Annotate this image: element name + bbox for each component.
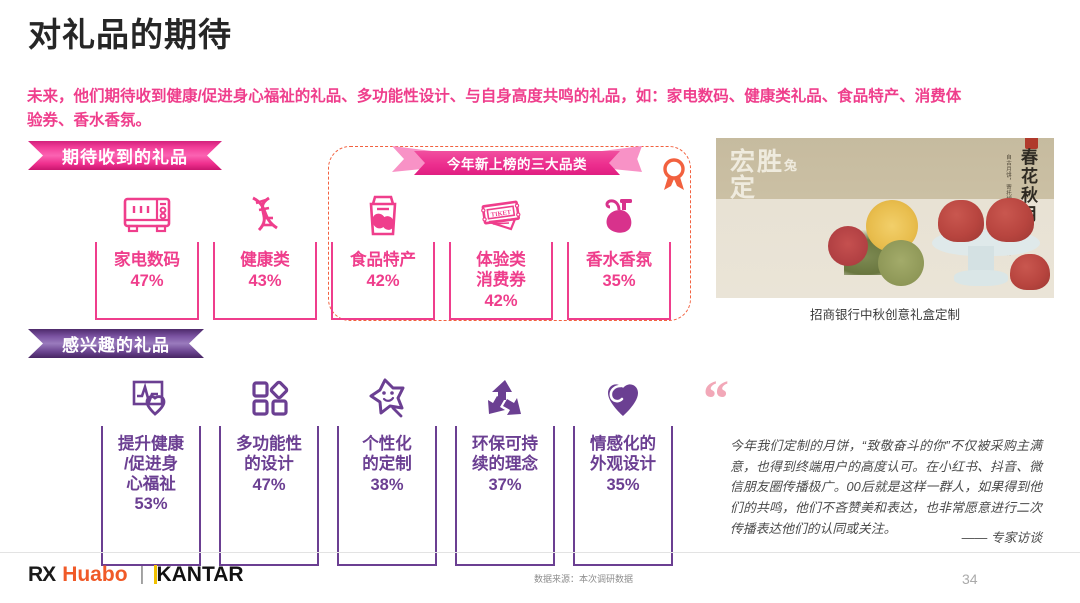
mooncake-photo: 宏胜兔 定 春花秋月 自古月饼，寄托相思与团圆，分享吉祥: [716, 138, 1054, 298]
rabbit-bun-1: [938, 200, 984, 242]
gift-item-value: 42%: [366, 272, 399, 291]
gift-item-label: 体验类消费券: [476, 251, 526, 291]
gift-item-value: 35%: [602, 272, 635, 291]
gift-item-box: 家电数码 47%: [95, 242, 199, 320]
svg-text:TIKET: TIKET: [490, 209, 512, 219]
gift-item-value: 47%: [130, 272, 163, 291]
interest-item-value: 35%: [606, 476, 639, 495]
gift-item-value: 43%: [248, 272, 281, 291]
data-source-note: 数据来源：本次调研数据: [534, 572, 633, 585]
food-bag-icon: [357, 188, 409, 238]
huabo-logo: Huabo: [62, 563, 127, 587]
interested-gifts-row: 提升健康/促进身心福祉 53% 多功能性的设计 47%: [92, 372, 682, 566]
recycle-icon: [479, 372, 531, 422]
interest-item-box: 多功能性的设计 47%: [219, 426, 319, 566]
gift-item-box: 健康类 43%: [213, 242, 317, 320]
section-banner-interested-gifts: 感兴趣的礼品: [28, 329, 204, 358]
rabbit-bun-3: [1010, 254, 1050, 290]
plate-foot: [954, 270, 1008, 286]
footer-divider: [0, 552, 1080, 553]
star-smile-icon: [361, 372, 413, 422]
interest-item-label: 个性化的定制: [362, 435, 412, 475]
gift-item-label: 香水香氛: [586, 251, 652, 271]
ribbon-label: 今年新上榜的三大品类: [414, 151, 620, 175]
interest-item-label: 情感化的外观设计: [590, 435, 656, 475]
interest-item-box: 情感化的外观设计 35%: [573, 426, 673, 566]
interest-item-personalization[interactable]: 个性化的定制 38%: [328, 372, 446, 566]
mooncake-red: [828, 226, 868, 266]
interest-item-box: 提升健康/促进身心福祉 53%: [101, 426, 201, 566]
gift-item-home-appliance[interactable]: 家电数码 47%: [88, 188, 206, 320]
interest-item-label: 提升健康/促进身心福祉: [118, 435, 184, 494]
rabbit-bun-2: [986, 198, 1034, 242]
dna-icon: [239, 188, 291, 238]
award-ribbon-icon: [660, 158, 688, 192]
perfume-icon: [593, 188, 645, 238]
footer-logos: RX Huabo | KANTAR: [28, 563, 244, 587]
interest-item-value: 53%: [134, 495, 167, 514]
interest-item-box: 环保可持续的理念 37%: [455, 426, 555, 566]
gift-item-label: 食品特产: [350, 251, 416, 271]
interest-item-emotional-design[interactable]: 情感化的外观设计 35%: [564, 372, 682, 566]
slide-root: 对礼品的期待 未来，他们期待收到健康/促进身心福祉的礼品、多功能性设计、与自身高…: [0, 0, 1080, 603]
gift-item-label: 家电数码: [114, 251, 180, 271]
photo-calligraphy-left: 宏胜兔 定: [730, 150, 799, 203]
interest-item-value: 37%: [488, 476, 521, 495]
gift-item-perfume[interactable]: 香水香氛 35%: [560, 188, 678, 320]
interest-item-box: 个性化的定制 38%: [337, 426, 437, 566]
section-banner-expected-gifts-label: 期待收到的礼品: [28, 143, 222, 168]
interest-item-value: 47%: [252, 476, 285, 495]
interest-item-sustainability[interactable]: 环保可持续的理念 37%: [446, 372, 564, 566]
gift-item-experience-voucher[interactable]: TIKET 体验类消费券 42%: [442, 188, 560, 320]
interest-item-label: 多功能性的设计: [236, 435, 302, 475]
gift-item-value: 42%: [484, 292, 517, 311]
heart-swirl-icon: [597, 372, 649, 422]
quote-author: —— 专家访谈: [730, 527, 1042, 546]
kantar-logo: KANTAR: [156, 563, 243, 587]
gift-item-box: 香水香氛 35%: [567, 242, 671, 320]
ticket-icon: TIKET: [475, 188, 527, 238]
interest-item-label: 环保可持续的理念: [472, 435, 538, 475]
gift-item-label: 健康类: [240, 251, 290, 271]
new-categories-ribbon: 今年新上榜的三大品类: [392, 151, 642, 175]
quote-mark-icon: “: [703, 374, 729, 426]
page-number: 34: [962, 571, 978, 587]
page-title: 对礼品的期待: [28, 17, 232, 53]
mooncake-photo-card: 宏胜兔 定 春花秋月 自古月饼，寄托相思与团圆，分享吉祥 招商银行中秋创意礼盒定…: [716, 138, 1054, 298]
gift-item-food-specialty[interactable]: 食品特产 42%: [324, 188, 442, 320]
microwave-icon: [121, 188, 173, 238]
multi-shapes-icon: [243, 372, 295, 422]
page-subtitle: 未来，他们期待收到健康/促进身心福祉的礼品、多功能性设计、与自身高度共鸣的礼品，…: [27, 85, 962, 132]
mooncake-green: [878, 240, 924, 286]
gift-item-box: 食品特产 42%: [331, 242, 435, 320]
health-monitor-heart-icon: [125, 372, 177, 422]
interest-item-multifunctional[interactable]: 多功能性的设计 47%: [210, 372, 328, 566]
section-banner-interested-gifts-label: 感兴趣的礼品: [28, 331, 204, 356]
section-banner-expected-gifts: 期待收到的礼品: [28, 141, 222, 170]
interest-item-health-wellbeing[interactable]: 提升健康/促进身心福祉 53%: [92, 372, 210, 566]
expected-gifts-row: 家电数码 47% 健康类 43%: [88, 188, 678, 320]
rx-logo: RX: [28, 563, 55, 587]
gift-item-box: 体验类消费券 42%: [449, 242, 553, 320]
interest-item-value: 38%: [370, 476, 403, 495]
photo-caption: 招商银行中秋创意礼盒定制: [716, 304, 1054, 323]
gift-item-health[interactable]: 健康类 43%: [206, 188, 324, 320]
logo-divider: |: [140, 564, 145, 586]
quote-text: 今年我们定制的月饼，“致敬奋斗的你”不仅被采购主满意，也得到终端用户的高度认可。…: [730, 436, 1042, 540]
